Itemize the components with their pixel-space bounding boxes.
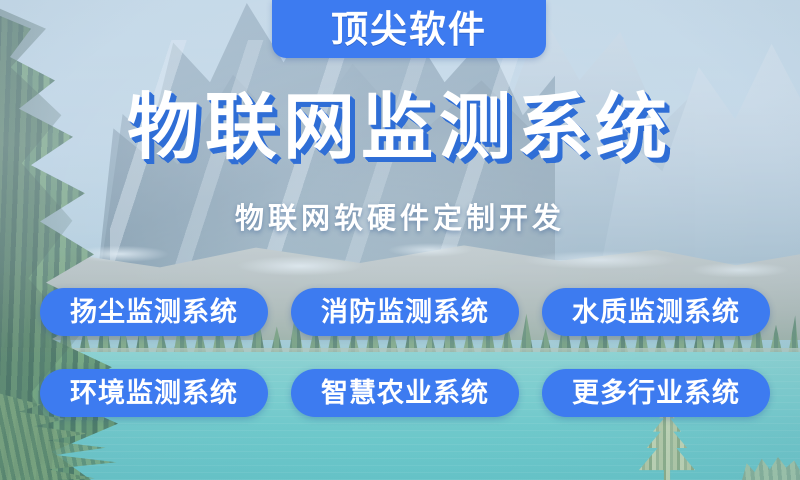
service-pill-more-industries[interactable]: 更多行业系统 (542, 369, 770, 417)
service-pill-environment-monitoring[interactable]: 环境监测系统 (40, 369, 268, 417)
service-pill-fire-monitoring[interactable]: 消防监测系统 (291, 288, 519, 336)
service-pill-label: 水质监测系统 (572, 299, 740, 326)
page-subtitle: 物联网软硬件定制开发 (0, 205, 800, 234)
banner-content: 顶尖软件 物联网监测系统 物联网软硬件定制开发 扬尘监测系统 消防监测系统 水质… (0, 0, 800, 480)
brand-badge-label: 顶尖软件 (331, 11, 487, 48)
service-pill-label: 消防监测系统 (321, 299, 489, 326)
service-pill-row-1: 扬尘监测系统 消防监测系统 水质监测系统 (40, 288, 770, 336)
service-pill-row-2: 环境监测系统 智慧农业系统 更多行业系统 (40, 369, 770, 417)
service-pill-label: 环境监测系统 (70, 380, 238, 407)
page-title: 物联网监测系统 (0, 92, 800, 164)
service-pill-label: 更多行业系统 (572, 380, 740, 407)
service-pill-dust-monitoring[interactable]: 扬尘监测系统 (40, 288, 268, 336)
service-pill-smart-agriculture[interactable]: 智慧农业系统 (291, 369, 519, 417)
service-pill-water-quality-monitoring[interactable]: 水质监测系统 (542, 288, 770, 336)
service-pill-label: 智慧农业系统 (321, 380, 489, 407)
service-pill-label: 扬尘监测系统 (70, 299, 238, 326)
promo-banner: 顶尖软件 物联网监测系统 物联网软硬件定制开发 扬尘监测系统 消防监测系统 水质… (0, 0, 800, 480)
brand-badge[interactable]: 顶尖软件 (272, 0, 546, 58)
service-pill-grid: 扬尘监测系统 消防监测系统 水质监测系统 环境监测系统 智慧农业系统 更多行业系… (40, 288, 770, 450)
